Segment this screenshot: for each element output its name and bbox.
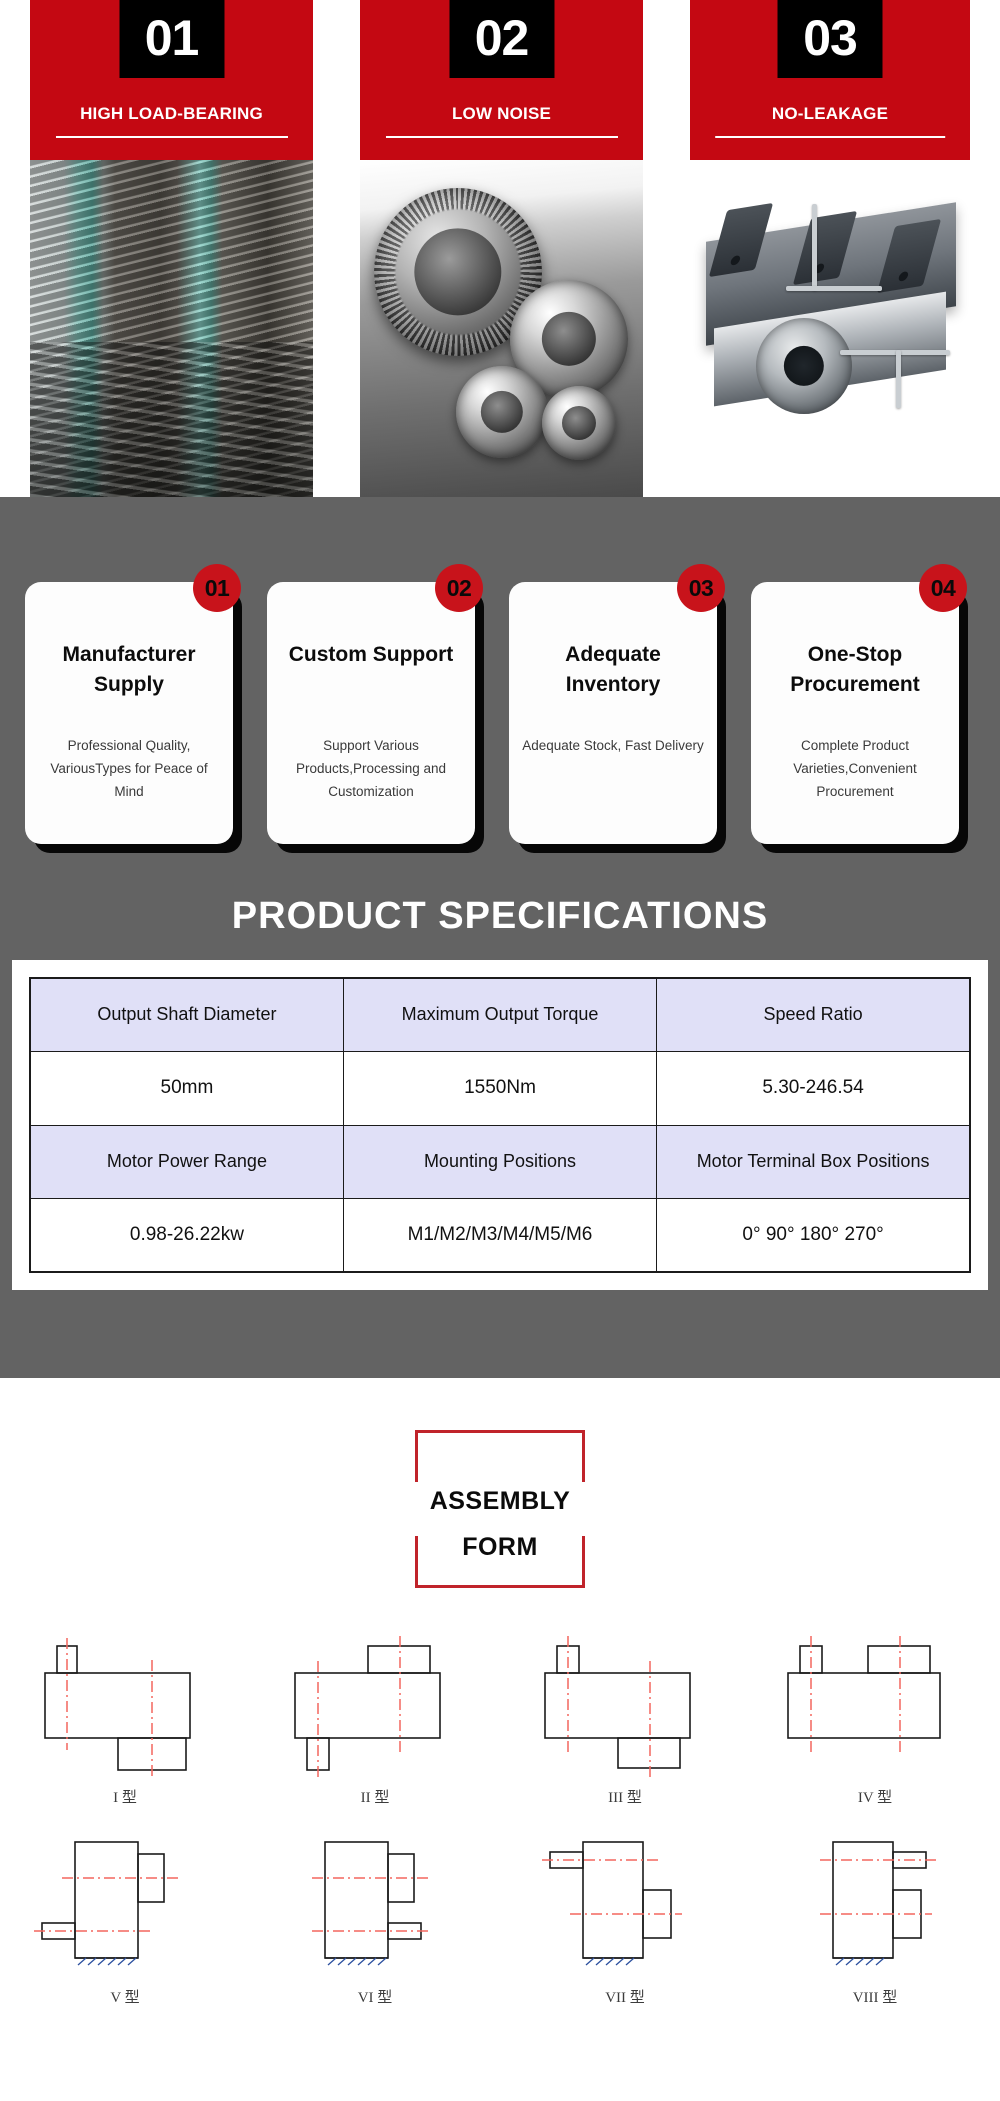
hero-panel-2-title: LOW NOISE (360, 104, 643, 124)
assembly-diagram-1-label: I 型 (0, 1786, 250, 1807)
assembly-drawing-i (0, 1628, 250, 1788)
hero-panel-2: 02 LOW NOISE (360, 0, 643, 497)
advantage-card-4-title: One-Stop Procurement (761, 640, 949, 700)
assembly-title: ASSEMBLY FORM (401, 1478, 599, 1571)
hero-panel-1-header: 01 HIGH LOAD-BEARING (30, 0, 313, 160)
assembly-diagram-4: IV 型 (750, 1628, 1000, 1828)
spec-value-cell: 5.30-246.54 (657, 1052, 970, 1126)
hero-panel-2-rule (385, 136, 617, 138)
assembly-diagram-row-1: I 型 II 型 (0, 1628, 1000, 1828)
assembly-drawing-iii (500, 1628, 750, 1788)
assembly-drawing-iv (750, 1628, 1000, 1788)
spec-value-cell: 0.98-26.22kw (30, 1199, 343, 1273)
frame-border-top (415, 1430, 585, 1433)
table-row: 50mm 1550Nm 5.30-246.54 (30, 1052, 970, 1126)
assembly-drawing-vi (250, 1828, 500, 1988)
spec-header-cell: Output Shaft Diameter (30, 978, 343, 1052)
advantage-card-2-title: Custom Support (277, 640, 465, 670)
spec-value-cell: 0° 90° 180° 270° (657, 1199, 970, 1273)
assembly-diagram-5: V 型 (0, 1828, 250, 2028)
spec-value-cell: M1/M2/M3/M4/M5/M6 (343, 1199, 656, 1273)
hero-panel-3: 03 NO-LEAKAGE (690, 0, 970, 497)
gearbox-output-flange (756, 318, 852, 414)
assembly-diagram-4-label: IV 型 (750, 1786, 1000, 1807)
assembly-title-line-1: ASSEMBLY (430, 1487, 571, 1515)
table-row: 0.98-26.22kw M1/M2/M3/M4/M5/M6 0° 90° 18… (30, 1199, 970, 1273)
assembly-diagram-6: VI 型 (250, 1828, 500, 2028)
advantage-card-1-title: Manufacturer Supply (35, 640, 223, 700)
advantage-card-2[interactable]: 02 Custom Support Support Various Produc… (267, 582, 475, 844)
assembly-diagram-3-label: III 型 (500, 1786, 750, 1807)
assembly-drawing-ii (250, 1628, 500, 1788)
gearbox-pipe-horizontal (786, 286, 882, 291)
spec-header-cell: Maximum Output Torque (343, 978, 656, 1052)
assembly-title-frame: ASSEMBLY FORM (415, 1430, 585, 1588)
assembly-title-line-2: FORM (462, 1533, 538, 1561)
assembly-diagram-8: VIII 型 (750, 1828, 1000, 2028)
gearbox-pipe-vertical (812, 204, 817, 290)
assembly-diagram-2-label: II 型 (250, 1786, 500, 1807)
assembly-diagram-2: II 型 (250, 1628, 500, 1828)
assembly-diagram-7-label: VII 型 (500, 1986, 750, 2007)
hero-photo-gear-bearing (360, 160, 643, 497)
bearing-ring-small (542, 386, 616, 460)
hero-photo-gear-shafts (30, 160, 313, 497)
assembly-diagram-3: III 型 (500, 1628, 750, 1828)
hero-panel-1-number: 01 (119, 0, 224, 78)
frame-border-bottom (415, 1585, 585, 1588)
assembly-drawing-vii (500, 1828, 750, 1988)
specifications-table-container: Output Shaft Diameter Maximum Output Tor… (12, 960, 988, 1290)
hero-panel-2-header: 02 LOW NOISE (360, 0, 643, 160)
table-row: Motor Power Range Mounting Positions Mot… (30, 1125, 970, 1199)
hero-panel-3-number: 03 (778, 0, 883, 78)
hero-feature-section: 01 HIGH LOAD-BEARING 02 LOW NOISE 03 NO-… (0, 0, 1000, 497)
spec-header-cell: Speed Ratio (657, 978, 970, 1052)
advantage-card-1-badge: 01 (193, 564, 241, 612)
frame-border-top-left (415, 1430, 418, 1482)
assembly-diagram-6-label: VI 型 (250, 1986, 500, 2007)
bearing-ring-medium (456, 366, 548, 458)
assembly-diagram-grid: I 型 II 型 (0, 1628, 1000, 2028)
hero-panel-2-number: 02 (449, 0, 554, 78)
hero-panel-1-rule (55, 136, 287, 138)
hero-panel-1: 01 HIGH LOAD-BEARING (30, 0, 313, 497)
advantage-card-3-title: Adequate Inventory (519, 640, 707, 700)
assembly-drawing-v (0, 1828, 250, 1988)
assembly-diagram-row-2: V 型 (0, 1828, 1000, 2028)
advantage-card-3-desc: Adequate Stock, Fast Delivery (521, 734, 705, 757)
hero-panel-3-title: NO-LEAKAGE (690, 104, 970, 124)
gearbox-pipe-drop (896, 350, 901, 408)
advantage-card-4-desc: Complete Product Varieties,Convenient Pr… (763, 734, 947, 804)
advantage-card-4-badge: 04 (919, 564, 967, 612)
hero-panel-3-header: 03 NO-LEAKAGE (690, 0, 970, 160)
assembly-diagram-5-label: V 型 (0, 1986, 250, 2007)
assembly-diagram-8-label: VIII 型 (750, 1986, 1000, 2007)
hero-panel-1-title: HIGH LOAD-BEARING (30, 104, 313, 124)
advantage-card-4[interactable]: 04 One-Stop Procurement Complete Product… (751, 582, 959, 844)
advantage-card-3[interactable]: 03 Adequate Inventory Adequate Stock, Fa… (509, 582, 717, 844)
advantage-card-1-desc: Professional Quality, VariousTypes for P… (37, 734, 221, 804)
spec-value-cell: 1550Nm (343, 1052, 656, 1126)
advantages-and-specs-section: 01 Manufacturer Supply Professional Qual… (0, 497, 1000, 1378)
spec-header-cell: Mounting Positions (343, 1125, 656, 1199)
spec-header-cell: Motor Power Range (30, 1125, 343, 1199)
hero-panel-3-rule (715, 136, 945, 138)
assembly-diagram-1: I 型 (0, 1628, 250, 1828)
advantage-card-3-badge: 03 (677, 564, 725, 612)
spec-header-cell: Motor Terminal Box Positions (657, 1125, 970, 1199)
gearbox-pipe-lower (840, 350, 950, 355)
advantage-card-1[interactable]: 01 Manufacturer Supply Professional Qual… (25, 582, 233, 844)
assembly-drawing-viii (750, 1828, 1000, 1988)
specifications-heading: PRODUCT SPECIFICATIONS (0, 895, 1000, 938)
specifications-table: Output Shaft Diameter Maximum Output Tor… (29, 977, 971, 1273)
advantage-cards: 01 Manufacturer Supply Professional Qual… (0, 582, 1000, 852)
hero-photo-gearbox-housing (690, 160, 970, 497)
table-row: Output Shaft Diameter Maximum Output Tor… (30, 978, 970, 1052)
advantage-card-2-desc: Support Various Products,Processing and … (279, 734, 463, 804)
advantage-card-2-badge: 02 (435, 564, 483, 612)
assembly-diagram-7: VII 型 (500, 1828, 750, 2028)
assembly-form-section: ASSEMBLY FORM I 型 (0, 1378, 1000, 2101)
spec-value-cell: 50mm (30, 1052, 343, 1126)
frame-border-top-right (582, 1430, 585, 1482)
